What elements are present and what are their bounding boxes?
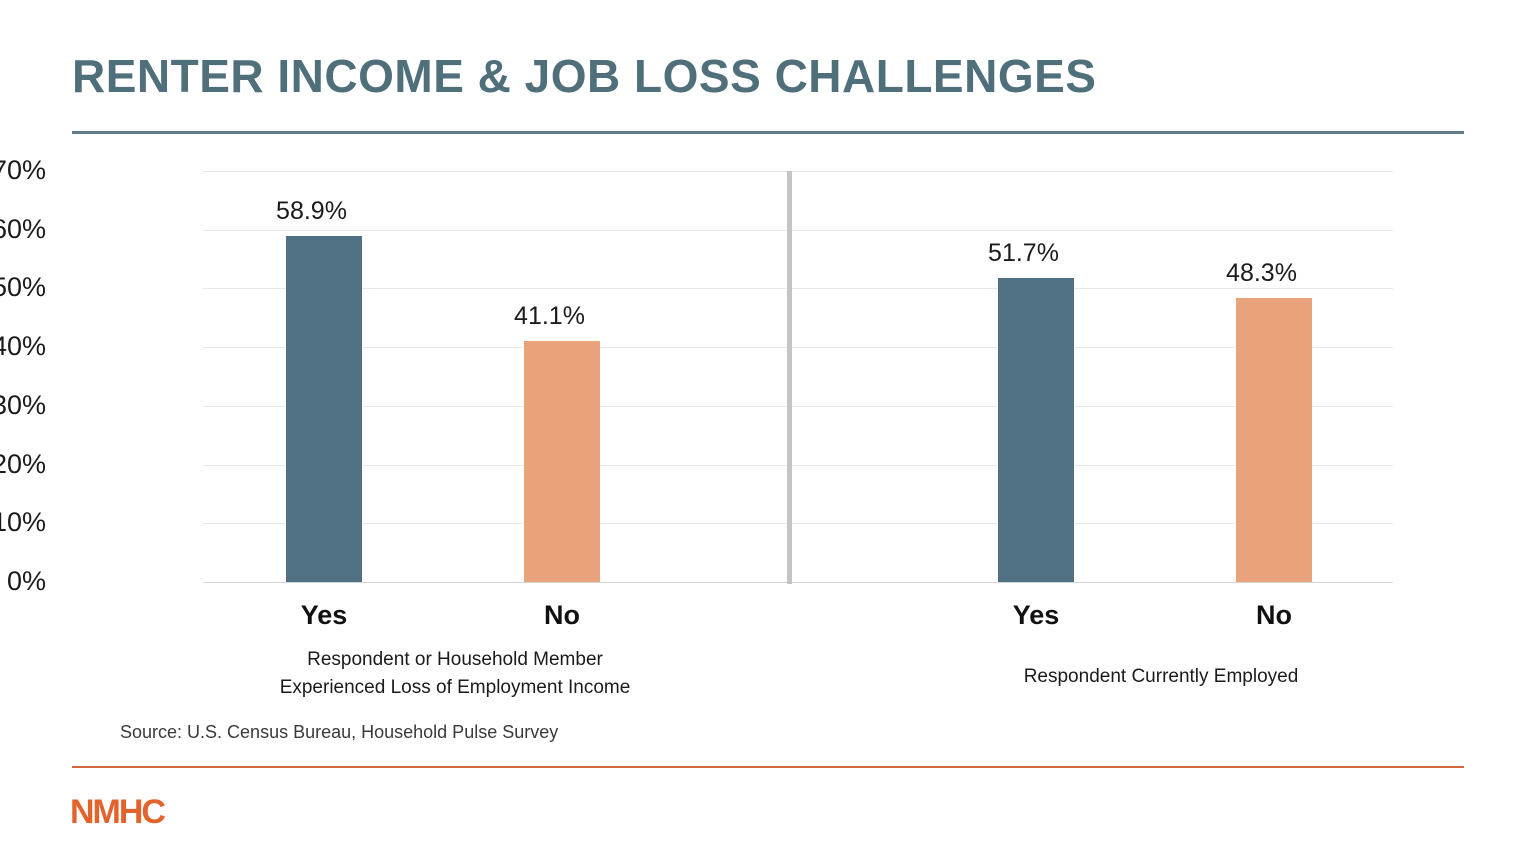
gridline xyxy=(203,288,1393,289)
source-note: Source: U.S. Census Bureau, Household Pu… xyxy=(120,722,558,743)
y-axis-tick-label: 50% xyxy=(0,274,46,301)
nmhc-logo: NMHC xyxy=(70,795,164,829)
category-label: No xyxy=(482,602,642,629)
gridline xyxy=(203,523,1393,524)
gridline xyxy=(203,230,1393,231)
footer-divider xyxy=(72,766,1464,768)
bar-no-group1 xyxy=(524,341,600,582)
bar-value-label: 48.3% xyxy=(1226,261,1297,286)
y-axis-tick-label: 30% xyxy=(0,392,46,419)
y-axis-tick-label: 20% xyxy=(0,451,46,478)
bar-value-label: 58.9% xyxy=(276,199,347,224)
group-caption-line: Experienced Loss of Employment Income xyxy=(195,674,715,702)
plot-area: 70%60%50%40%30%20%10%0% xyxy=(203,171,1393,582)
group-caption: Respondent or Household MemberExperience… xyxy=(195,646,715,701)
bar-value-label: 41.1% xyxy=(514,304,585,329)
category-label: Yes xyxy=(956,602,1116,629)
group-caption-line: Respondent Currently Employed xyxy=(901,663,1421,691)
y-axis-tick-label: 10% xyxy=(0,509,46,536)
group-separator xyxy=(787,171,792,584)
category-label: Yes xyxy=(244,602,404,629)
gridline xyxy=(203,406,1393,407)
bar-value-label: 51.7% xyxy=(988,241,1059,266)
y-axis-tick-label: 40% xyxy=(0,333,46,360)
gridline xyxy=(203,465,1393,466)
gridline xyxy=(203,171,1393,172)
bar-yes-group1 xyxy=(286,236,362,582)
gridline xyxy=(203,582,1393,583)
category-label: No xyxy=(1194,602,1354,629)
group-caption-line: Respondent or Household Member xyxy=(195,646,715,674)
gridline xyxy=(203,347,1393,348)
y-axis-tick-label: 60% xyxy=(0,216,46,243)
bar-no-group2 xyxy=(1236,298,1312,582)
y-axis-tick-label: 0% xyxy=(0,568,46,595)
bar-yes-group2 xyxy=(998,278,1074,582)
y-axis-tick-label: 70% xyxy=(0,157,46,184)
group-caption: Respondent Currently Employed xyxy=(901,663,1421,691)
